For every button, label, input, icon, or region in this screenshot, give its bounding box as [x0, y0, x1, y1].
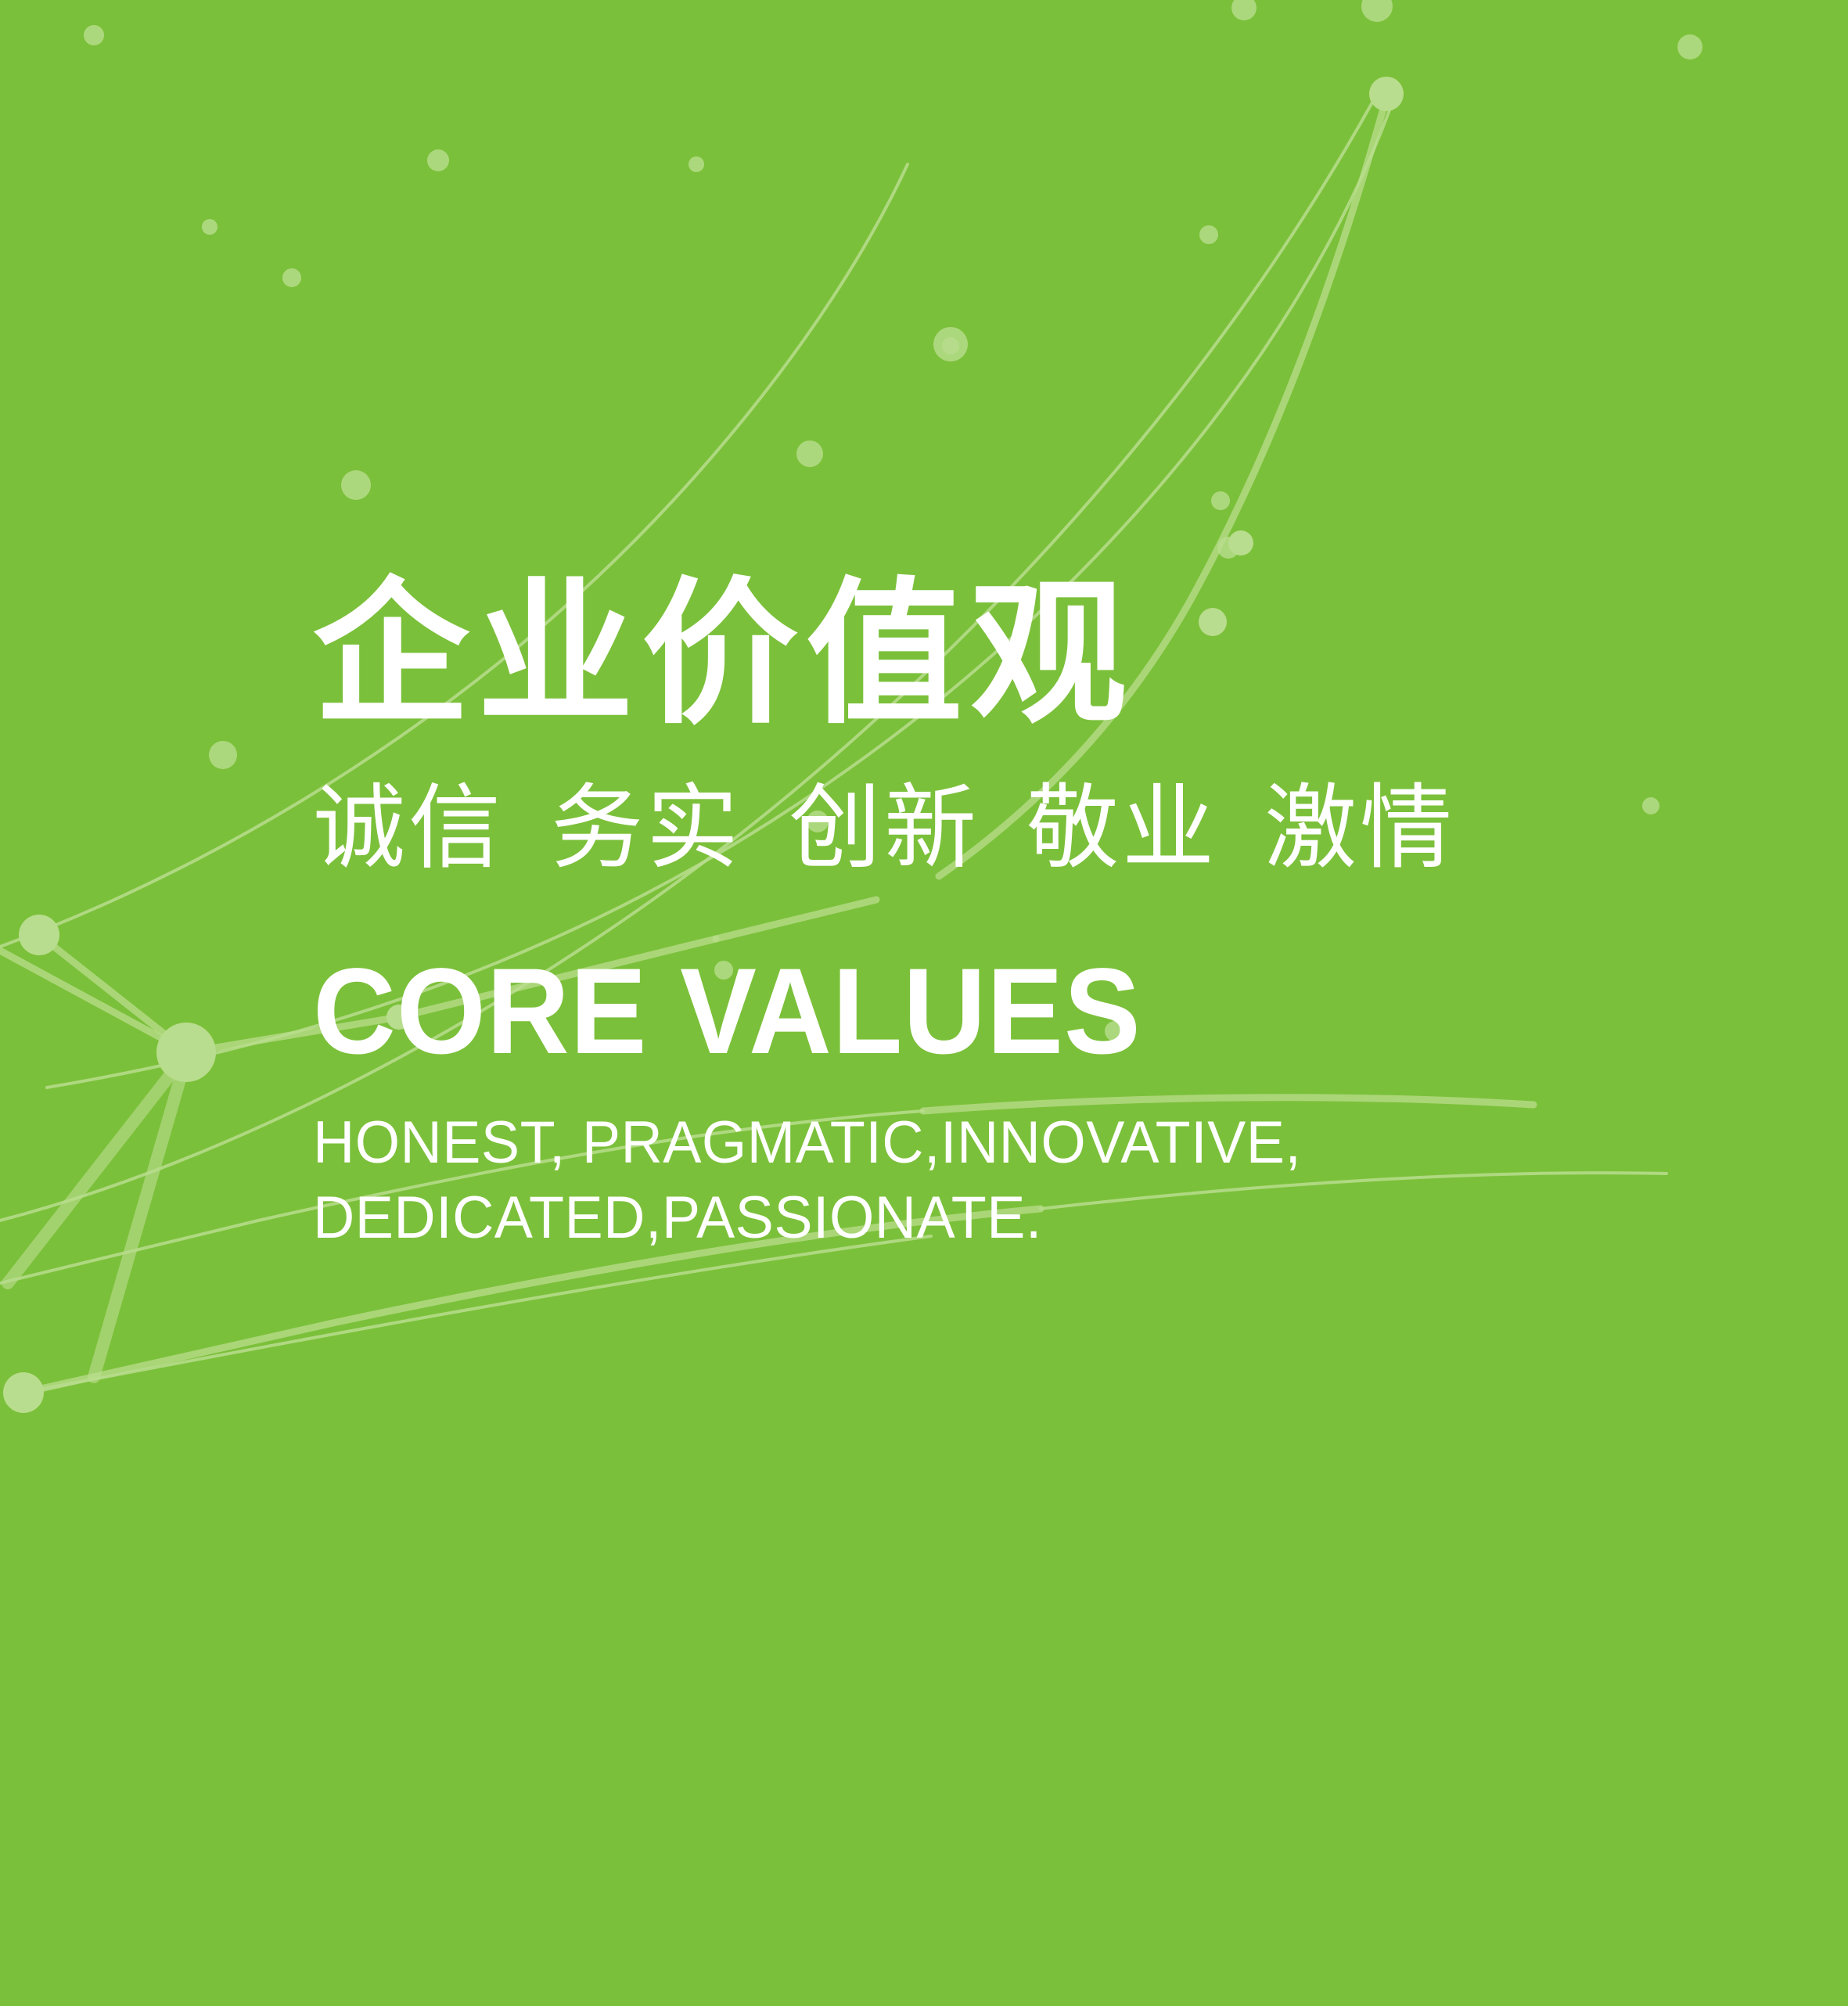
- core-values-english-list: HONEST, PRAGMATIC,INNOVATIVE,DEDICATED,P…: [313, 1073, 1451, 1256]
- decor-dot: [84, 25, 104, 45]
- page-title-chinese: 企业价值观: [313, 575, 1721, 735]
- decor-dot: [796, 440, 823, 467]
- decor-dot: [282, 268, 301, 287]
- core-values-poster: .ln { fill:none; stroke:#b9dd8e; stroke-…: [0, 0, 1848, 2006]
- decor-dot: [1231, 0, 1257, 20]
- decor-dot: [341, 470, 371, 500]
- decor-dot: [933, 327, 968, 361]
- decor-dot: [1361, 0, 1393, 22]
- headline-block: 企业价值观 诚信务实创新敬业激情 CORE VALUES HONEST, PRA…: [313, 575, 1721, 1256]
- decor-dot: [202, 219, 218, 235]
- decor-node: [1228, 530, 1253, 555]
- decor-dot: [1217, 537, 1239, 559]
- core-values-chinese-list: 诚信务实创新敬业激情: [313, 735, 1721, 874]
- decor-dot: [427, 149, 449, 171]
- core-value-cn-2: 务实: [551, 774, 742, 882]
- decor-dot: [209, 741, 237, 769]
- page-title-english: CORE VALUES: [313, 874, 1637, 1073]
- decor-node: [1369, 77, 1404, 111]
- decor-dot: [1199, 225, 1218, 244]
- core-value-cn-1: 诚信: [313, 774, 504, 882]
- core-value-cn-5: 激情: [1264, 774, 1455, 882]
- decor-dot: [689, 156, 704, 172]
- decor-dot: [942, 337, 959, 354]
- core-value-cn-4: 敬业: [1026, 774, 1217, 882]
- decor-node: [19, 915, 59, 955]
- decor-dot: [1677, 34, 1702, 59]
- decor-node: [156, 1023, 216, 1082]
- core-value-cn-3: 创新: [789, 774, 980, 882]
- decor-dot: [1211, 491, 1230, 510]
- core-values-english-line-1: HONEST, PRAGMATIC,INNOVATIVE,: [313, 1105, 1451, 1181]
- decor-node: [3, 1372, 44, 1413]
- core-values-english-line-2: DEDICATED,PASSIONATE.: [313, 1181, 1451, 1256]
